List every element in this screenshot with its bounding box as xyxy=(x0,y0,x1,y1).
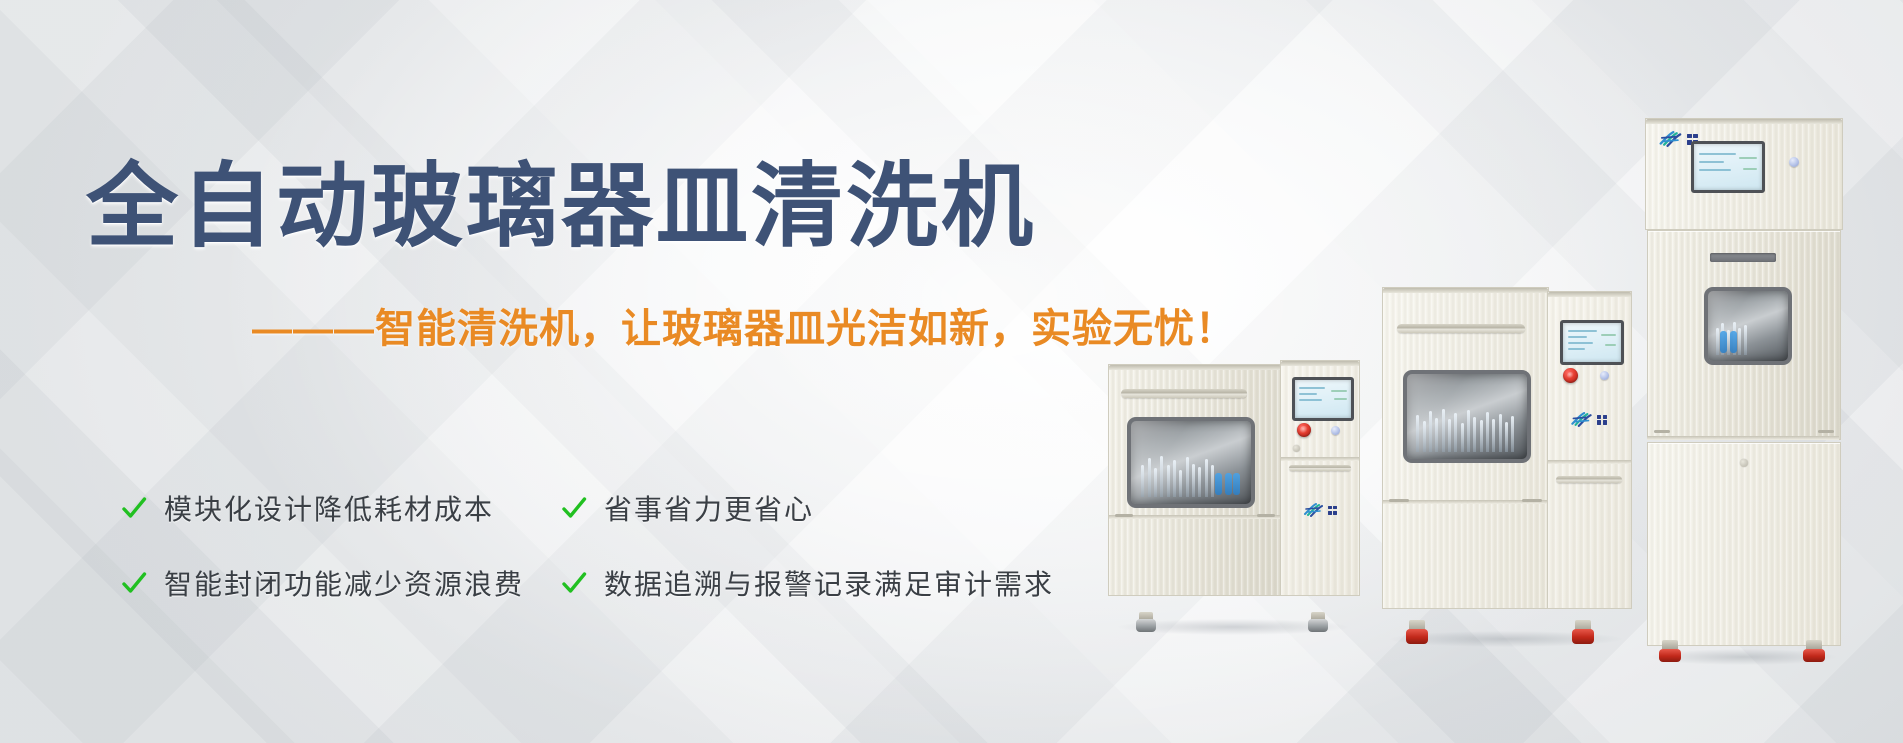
feature-item-label: 模块化设计降低耗材成本 xyxy=(164,488,494,528)
hmi-touchscreen[interactable] xyxy=(1560,320,1624,365)
brand-logo xyxy=(1570,412,1607,427)
caster-wheel-right xyxy=(1803,640,1825,662)
feature-item-3: 智能封闭功能减少资源浪费 xyxy=(120,563,560,603)
hmi-touchscreen[interactable] xyxy=(1691,141,1765,193)
cabinet-lock[interactable] xyxy=(1740,459,1748,467)
logo-mark-icon xyxy=(1658,131,1684,147)
lower-door-handle xyxy=(1556,476,1622,483)
panel-seam xyxy=(1548,460,1631,464)
control-panel-body xyxy=(1547,291,1632,609)
body-seam xyxy=(1109,515,1281,519)
indicator-light[interactable] xyxy=(1789,157,1799,167)
chamber-top-cap xyxy=(1383,288,1548,293)
feature-item-4: 数据追溯与报警记录满足审计需求 xyxy=(560,563,1054,603)
control-panel-body xyxy=(1280,360,1360,596)
chamber-viewing-window xyxy=(1704,287,1792,365)
chamber-viewing-window xyxy=(1403,370,1531,463)
lower-cabinet-body xyxy=(1647,442,1841,646)
caster-wheel-left xyxy=(1406,620,1428,644)
glassware-rack xyxy=(1138,452,1244,498)
check-icon xyxy=(120,494,148,522)
brand-logo xyxy=(1303,503,1337,517)
caster-wheel-right xyxy=(1572,620,1594,644)
glassware-rack xyxy=(1414,405,1520,452)
control-knob[interactable] xyxy=(1293,445,1300,452)
product-image-freestanding-washer xyxy=(1382,281,1630,643)
feature-item-1: 模块化设计降低耗材成本 xyxy=(120,488,560,528)
chamber-viewing-window xyxy=(1127,417,1255,508)
caster-wheel-left xyxy=(1659,640,1681,662)
feature-item-label: 省事省力更省心 xyxy=(604,488,814,528)
logo-mark-icon xyxy=(1570,412,1594,427)
feature-item-2: 省事省力更省心 xyxy=(560,488,1054,528)
head-top-cap xyxy=(1646,119,1842,124)
feature-item-label: 数据追溯与报警记录满足审计需求 xyxy=(604,563,1054,603)
door-latch-right xyxy=(1818,430,1834,433)
emergency-stop-button[interactable] xyxy=(1563,368,1578,383)
washer-chamber-body xyxy=(1108,364,1282,596)
lower-door-handle xyxy=(1289,465,1351,471)
door-latch-right xyxy=(1257,514,1275,517)
caster-wheel-left xyxy=(1136,612,1156,632)
chamber-vent xyxy=(1710,253,1776,262)
chamber-top-cap xyxy=(1109,365,1281,370)
door-latch-left xyxy=(1654,430,1670,433)
indicator-light[interactable] xyxy=(1331,426,1340,435)
door-latch-left xyxy=(1115,514,1133,517)
feature-item-label: 智能封闭功能减少资源浪费 xyxy=(164,563,524,603)
control-head-body xyxy=(1645,118,1843,230)
logo-mark-icon xyxy=(1303,503,1325,517)
body-seam xyxy=(1647,436,1839,440)
glassware-rack xyxy=(1713,317,1783,356)
panel-top-cap xyxy=(1281,361,1359,366)
logo-squares-icon xyxy=(1597,415,1607,425)
caster-wheel-right xyxy=(1308,612,1328,632)
check-icon xyxy=(560,494,588,522)
panel-top-cap xyxy=(1548,292,1631,297)
hero-banner: 全自动玻璃器皿清洗机 ———智能清洗机，让玻璃器皿光洁如新，实验无忧！ 模块化设… xyxy=(0,0,1903,743)
washer-chamber-body xyxy=(1647,230,1841,440)
indicator-light[interactable] xyxy=(1600,371,1609,380)
check-icon xyxy=(120,569,148,597)
washer-chamber-body xyxy=(1382,287,1549,609)
emergency-stop-button[interactable] xyxy=(1297,423,1311,437)
page-subtitle: ———智能清洗机，让玻璃器皿光洁如新，实验无忧！ xyxy=(252,296,1236,354)
door-handle xyxy=(1121,389,1247,398)
hmi-touchscreen[interactable] xyxy=(1292,377,1354,421)
product-image-group xyxy=(1100,98,1903,743)
door-latch-left xyxy=(1389,499,1409,502)
door-latch-right xyxy=(1522,499,1542,502)
panel-seam xyxy=(1281,457,1359,461)
page-title: 全自动玻璃器皿清洗机 xyxy=(86,160,1036,256)
logo-squares-icon xyxy=(1328,506,1337,515)
feature-list: 模块化设计降低耗材成本 省事省力更省心 智能封闭功能减少资源浪费 数据追溯与报警… xyxy=(120,470,1054,620)
door-handle xyxy=(1397,324,1525,333)
check-icon xyxy=(560,569,588,597)
product-image-tall-column-washer xyxy=(1645,118,1841,661)
product-image-undercounter-washer xyxy=(1108,356,1358,631)
